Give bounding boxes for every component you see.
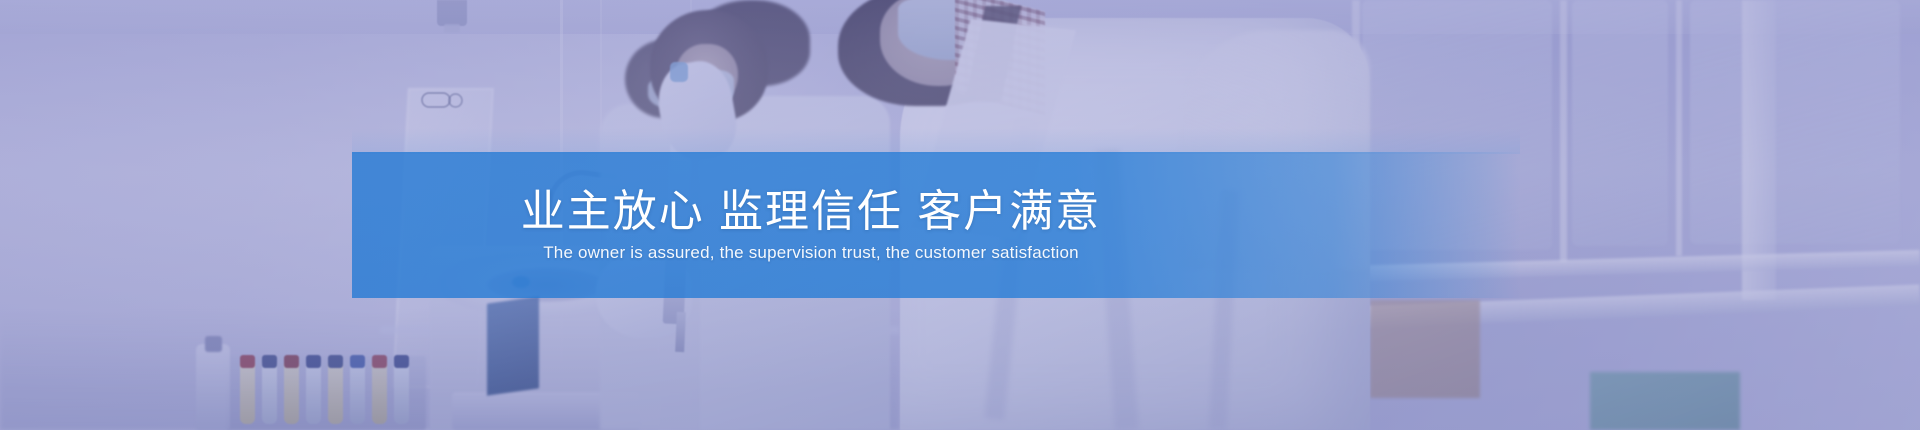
- hero-text-block: 业主放心 监理信任 客户满意 The owner is assured, the…: [352, 152, 1520, 298]
- hero-headline: 业主放心 监理信任 客户满意: [521, 186, 1101, 238]
- hero-banner: 业主放心 监理信任 客户满意 The owner is assured, the…: [0, 0, 1920, 430]
- hero-subheadline: The owner is assured, the supervision tr…: [543, 242, 1079, 264]
- band-top-haze: [352, 128, 1520, 154]
